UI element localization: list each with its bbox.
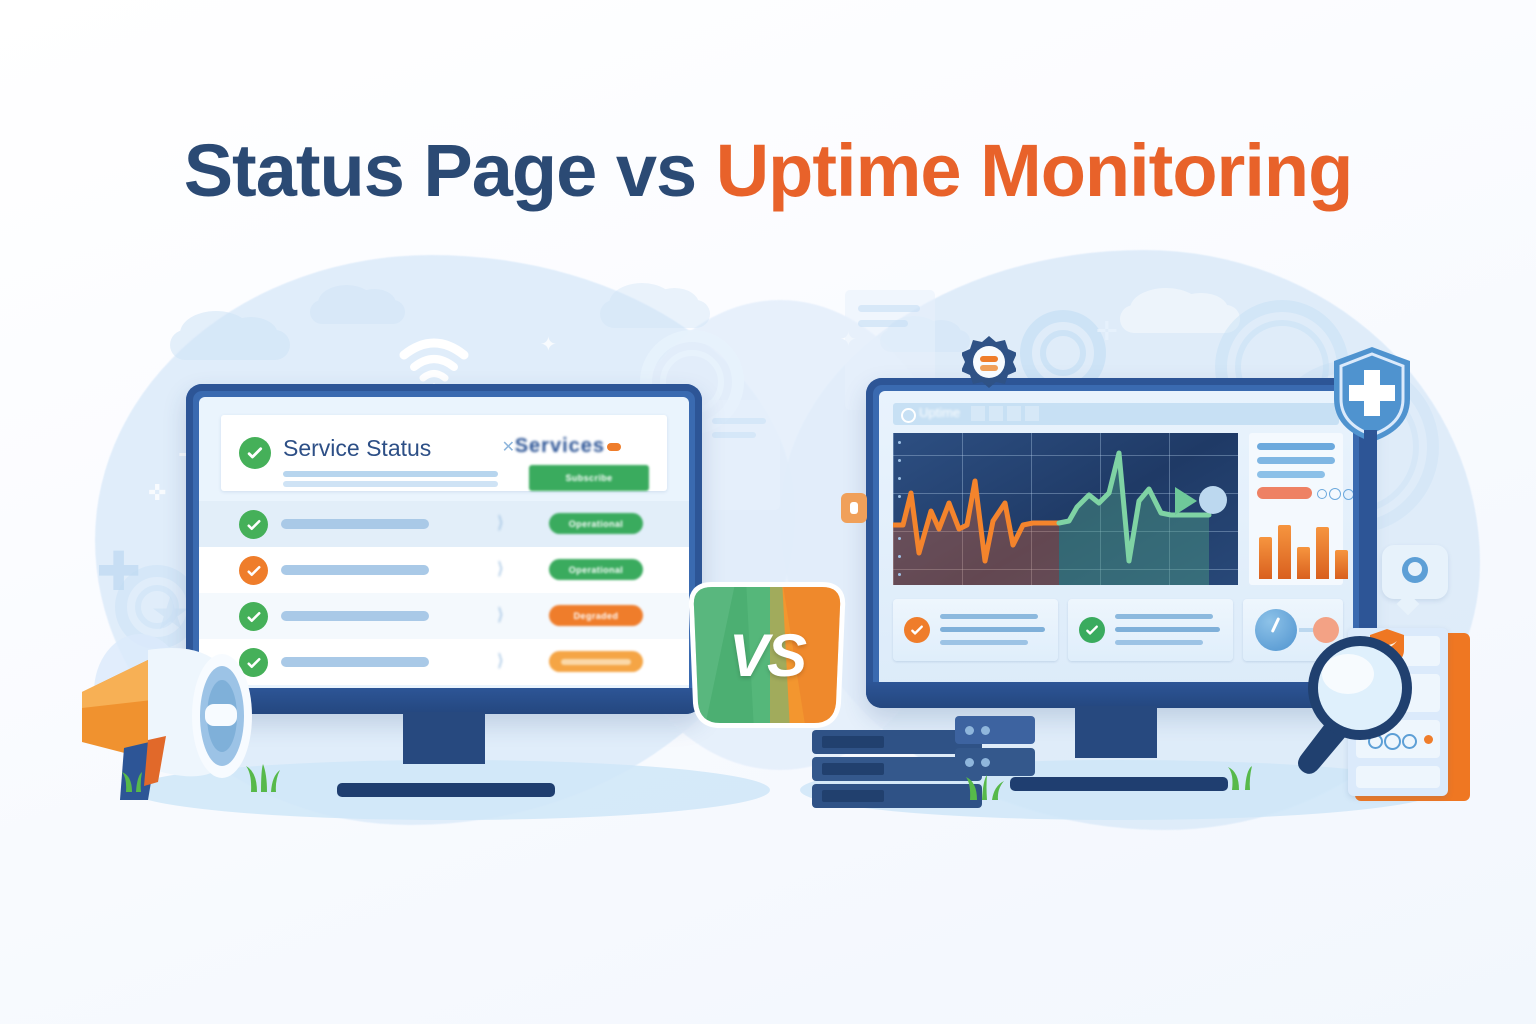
- sparkle-icon: ✦: [540, 335, 557, 355]
- document-shape: [712, 432, 756, 438]
- card-text-line: [940, 640, 1028, 645]
- check-circle-icon: [239, 602, 268, 631]
- monitor-base: [1010, 777, 1228, 791]
- grass-tuft: [243, 762, 283, 792]
- document-shape: [858, 320, 908, 327]
- grass-tuft: [120, 768, 150, 792]
- illustration-canvas: ✦ ✦ ✛ ✛ ✜ ★ ✚ Status Page vs Uptime Moni…: [0, 0, 1536, 1024]
- bar-item: [1278, 525, 1291, 579]
- row-label-line: [281, 611, 429, 621]
- grass-tuft: [964, 772, 1008, 800]
- toolbar-tab[interactable]: [1025, 406, 1039, 421]
- monitor-base: [337, 783, 555, 797]
- shield-pole: [1364, 430, 1377, 630]
- side-panel: [1249, 433, 1343, 585]
- status-badge: Operational: [549, 559, 643, 580]
- server-led-icon: [1424, 735, 1433, 744]
- service-status-header-card: Service Status ✕ Services Subscribe: [221, 415, 667, 491]
- check-circle-icon: [239, 510, 268, 539]
- bar-item: [1316, 527, 1329, 579]
- toolbar-label: Uptime: [919, 405, 960, 420]
- cloud-icon: [1120, 305, 1240, 333]
- page-title: Status Page vs Uptime Monitoring: [0, 128, 1536, 213]
- server-stack-icon: [955, 716, 1035, 778]
- check-circle-icon: [239, 556, 268, 585]
- status-badge: Operational: [549, 513, 643, 534]
- row-meta-text: ⟩: [497, 513, 504, 533]
- side-dot-icon: [1317, 489, 1327, 499]
- toolbar-tab[interactable]: [989, 406, 1003, 421]
- cloud-icon: [600, 300, 710, 328]
- header-text-line: [283, 471, 498, 477]
- subscribe-button[interactable]: Subscribe: [529, 465, 649, 491]
- status-row[interactable]: ⟩ Operational: [199, 501, 689, 547]
- row-meta-text: ⟩: [497, 605, 504, 625]
- side-highlight-bar: [1257, 487, 1312, 499]
- status-badge: [549, 651, 643, 672]
- bar-item: [1297, 547, 1310, 579]
- bar-item: [1259, 537, 1272, 579]
- user-badge-icon: [1382, 545, 1448, 599]
- status-card[interactable]: [893, 599, 1058, 661]
- card-text-line: [940, 614, 1038, 619]
- grass-tuft: [1226, 762, 1262, 790]
- sparkle-icon: ✛: [1096, 318, 1118, 344]
- vs-label: VS: [686, 579, 848, 731]
- header-text-line: [283, 481, 498, 487]
- toolbar-tab[interactable]: [971, 406, 985, 421]
- row-meta-text: ⟩: [497, 651, 504, 671]
- brand-label: Services: [515, 435, 605, 458]
- page-title-left: Status Page vs: [184, 129, 696, 212]
- cloud-icon: [310, 300, 405, 324]
- monitor-neck: [403, 712, 485, 764]
- check-circle-icon: [904, 617, 930, 643]
- side-dot-icon: [1329, 488, 1341, 500]
- side-dot-icon: [1343, 489, 1353, 500]
- gear-badge-icon: [962, 335, 1016, 389]
- brand-x-icon: ✕: [502, 437, 515, 457]
- status-badge: Degraded: [549, 605, 643, 626]
- lock-icon: [841, 493, 867, 523]
- cloud-icon: [170, 330, 290, 360]
- card-text-line: [1115, 640, 1203, 645]
- row-label-line: [281, 565, 429, 575]
- uptime-chart-svg: [893, 433, 1238, 585]
- document-shape: [700, 400, 780, 510]
- brand-dot-icon: [607, 443, 621, 451]
- toolbar-tab[interactable]: [1007, 406, 1021, 421]
- document-shape: [712, 418, 766, 424]
- side-text-line: [1257, 443, 1335, 450]
- document-shape: [858, 305, 920, 312]
- status-card[interactable]: [1068, 599, 1233, 661]
- card-text-line: [1115, 627, 1220, 632]
- puzzle-icon: ✚: [96, 545, 141, 599]
- card-text-line: [940, 627, 1045, 632]
- side-text-line: [1257, 471, 1325, 478]
- toolbar-circle-icon: [901, 408, 916, 423]
- row-meta-text: ⟩: [497, 559, 504, 579]
- service-status-title: Service Status: [283, 435, 431, 462]
- monitor-neck: [1075, 706, 1157, 758]
- status-row[interactable]: ⟩ Operational: [199, 547, 689, 593]
- vs-shield: VS: [686, 579, 848, 731]
- magnifier-icon: [1282, 628, 1422, 778]
- row-label-line: [281, 519, 429, 529]
- sparkle-icon: ✜: [148, 482, 166, 504]
- check-circle-icon: [1079, 617, 1105, 643]
- card-text-line: [1115, 614, 1213, 619]
- check-circle-icon: [239, 437, 271, 469]
- uptime-chart-panel: [893, 433, 1238, 585]
- bar-item: [1335, 550, 1348, 579]
- page-title-right: Uptime Monitoring: [716, 129, 1353, 212]
- side-text-line: [1257, 457, 1335, 464]
